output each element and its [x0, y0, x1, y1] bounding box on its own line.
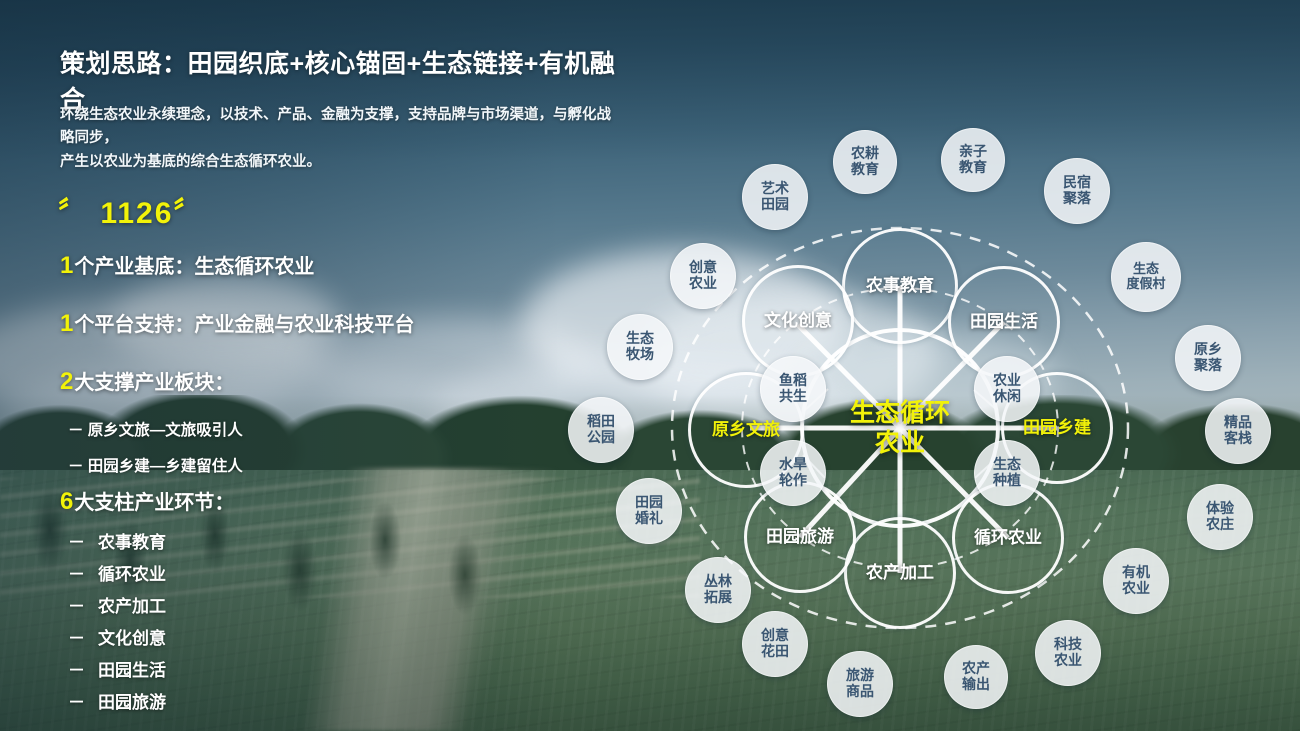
bullet: －: [68, 534, 98, 551]
slide-canvas: 策划思路：田园织底+核心锚固+生态链接+有机融合 环绕生态农业永续理念，以技术、…: [0, 0, 1300, 731]
outer-node-tiyan-nongzhuang[interactable]: 体验 农庄: [1187, 484, 1253, 550]
key-point-2-number: 1: [60, 310, 73, 337]
outer-node-tianyuan-hunli[interactable]: 田园 婚礼: [616, 478, 682, 544]
ecosystem-diagram: 生态循环 农业 农事教育 田园生活 田园乡建 循环农业 农产加工 田园旅游 原乡…: [560, 110, 1300, 731]
list-item: －循环农业: [68, 566, 166, 583]
key-point-3: 2大支撑产业板块：: [60, 366, 234, 396]
six-header-number: 6: [60, 488, 73, 515]
pillar-dash-2: － 田园乡建—乡建留住人: [68, 454, 243, 476]
outer-node-label-line-2: 拓展: [704, 590, 732, 606]
outer-node-label-line-1: 生态: [1126, 262, 1165, 277]
inner-node-label-line-2: 种植: [993, 473, 1021, 489]
bullet: －: [68, 630, 98, 647]
key-point-1-text: 个产业基底：生态循环农业: [74, 256, 314, 278]
outer-node-label-line-2: 牧场: [626, 347, 654, 363]
list-item: －农事教育: [68, 534, 166, 551]
outer-node-label-line-2: 度假村: [1126, 277, 1165, 292]
list-item-label: 农事教育: [98, 533, 166, 552]
inner-node-label-line-2: 共生: [779, 389, 807, 405]
outer-node-yuanxiang-juluo[interactable]: 原乡 聚落: [1175, 325, 1241, 391]
key-point-1-number: 1: [60, 252, 73, 279]
bullet: －: [68, 694, 98, 711]
outer-node-label-line-2: 农庄: [1206, 517, 1234, 533]
outer-node-label-line-2: 教育: [851, 162, 879, 178]
ring-node-label: 原乡文旅: [712, 420, 780, 439]
outer-node-label-line-1: 生态: [626, 331, 654, 347]
key-point-3-number: 2: [60, 368, 73, 395]
inner-node-label-line-2: 轮作: [779, 473, 807, 489]
outer-node-label-line-2: 商品: [846, 684, 874, 700]
core-label-line-2: 农业: [850, 428, 950, 458]
outer-node-label-line-1: 创意: [761, 628, 789, 644]
inner-node-label-line-2: 休闲: [993, 389, 1021, 405]
outer-node-chuangyi-huatian[interactable]: 创意 花田: [742, 611, 808, 677]
outer-node-chuangyi-nongye[interactable]: 创意 农业: [670, 243, 736, 309]
outer-node-label-line-2: 客栈: [1224, 431, 1252, 447]
list-item-label: 文化创意: [98, 629, 166, 648]
outer-node-label-line-2: 农业: [689, 276, 717, 292]
outer-node-minsu-juluo[interactable]: 民宿 聚落: [1044, 158, 1110, 224]
outer-node-jingpin-kezhan[interactable]: 精品 客栈: [1205, 398, 1271, 464]
outer-node-shengtai-dujiacun[interactable]: 生态 度假村: [1111, 242, 1181, 312]
list-item-label: 田园生活: [98, 661, 166, 680]
outer-node-label-line-1: 农耕: [851, 146, 879, 162]
six-header-text: 大支柱产业环节：: [74, 492, 234, 514]
inner-node-label-line-1: 鱼稻: [779, 373, 807, 389]
outer-node-label-line-1: 艺术: [761, 181, 789, 197]
outer-node-label-line-1: 稻田: [587, 414, 615, 430]
outer-node-label-line-2: 田园: [761, 197, 789, 213]
inner-node-label-line-1: 农业: [993, 373, 1021, 389]
outer-node-label-line-2: 聚落: [1063, 191, 1091, 207]
outer-node-label-line-2: 公园: [587, 430, 615, 446]
outer-node-label-line-1: 农产: [962, 661, 990, 677]
core-label-line-1: 生态循环: [850, 398, 950, 428]
ring-node-label: 农产加工: [866, 563, 934, 582]
pillar-dash-1: － 原乡文旅—文旅吸引人: [68, 418, 243, 440]
outer-node-keji-nongye[interactable]: 科技 农业: [1035, 620, 1101, 686]
key-point-1: 1个产业基底：生态循环农业: [60, 250, 314, 280]
key-point-3-text: 大支撑产业板块：: [74, 372, 234, 394]
outer-node-label-line-1: 有机: [1122, 565, 1150, 581]
ring-node-label: 农事教育: [866, 276, 934, 295]
outer-node-label-line-1: 田园: [635, 495, 663, 511]
list-item-label: 田园旅游: [98, 693, 166, 712]
inner-node-shengtai-zhongzhi[interactable]: 生态 种植: [974, 440, 1040, 506]
outer-node-label-line-2: 农业: [1054, 653, 1082, 669]
outer-node-lvyou-shangpin[interactable]: 旅游 商品: [827, 651, 893, 717]
outer-node-conglin-tuozhan[interactable]: 丛林 拓展: [685, 557, 751, 623]
outer-node-label-line-2: 婚礼: [635, 511, 663, 527]
left-text-column: 策划思路：田园织底+核心锚固+生态链接+有机融合 环绕生态农业永续理念，以技术、…: [0, 0, 620, 731]
six-header: 6大支柱产业环节：: [60, 486, 234, 516]
list-item: －田园生活: [68, 662, 166, 679]
outer-node-label-line-2: 农业: [1122, 581, 1150, 597]
bullet: －: [68, 662, 98, 679]
outer-node-shengtai-muchang[interactable]: 生态 牧场: [607, 314, 673, 380]
ring-node-label: 田园旅游: [766, 527, 834, 546]
key-point-2-text: 个平台支持：产业金融与农业科技平台: [74, 314, 414, 336]
inner-node-label-line-1: 水旱: [779, 457, 807, 473]
subtitle-line-2: 产生以农业为基底的综合生态循环农业。: [60, 151, 620, 174]
outer-node-yishu-tianyuan[interactable]: 艺术 田园: [742, 164, 808, 230]
outer-node-label-line-2: 输出: [962, 677, 990, 693]
ring-node-label: 田园乡建: [1023, 418, 1091, 437]
outer-node-label-line-1: 旅游: [846, 668, 874, 684]
list-item: －农产加工: [68, 598, 166, 615]
six-items-list: －农事教育 －循环农业 －农产加工 －文化创意 －田园生活 －田园旅游: [68, 534, 166, 726]
bullet: －: [68, 566, 98, 583]
list-item-label: 农产加工: [98, 597, 166, 616]
outer-node-label-line-1: 精品: [1224, 415, 1252, 431]
ring-node-label: 循环农业: [974, 528, 1042, 547]
outer-node-daotian-gongyuan[interactable]: 稻田 公园: [568, 397, 634, 463]
outer-node-youji-nongye[interactable]: 有机 农业: [1103, 548, 1169, 614]
outer-node-label-line-2: 聚落: [1194, 358, 1222, 374]
list-item-label: 循环农业: [98, 565, 166, 584]
ring-node-label: 文化创意: [764, 311, 832, 330]
list-item: －文化创意: [68, 630, 166, 647]
inner-node-label-line-1: 生态: [993, 457, 1021, 473]
code-label: 〞 1126〞: [58, 188, 205, 232]
outer-node-label-line-1: 创意: [689, 260, 717, 276]
ring-node-label: 田园生活: [970, 312, 1038, 331]
outer-node-label-line-2: 花田: [761, 644, 789, 660]
inner-node-nongye-xiuxian[interactable]: 农业 休闲: [974, 356, 1040, 422]
outer-node-label-line-1: 原乡: [1194, 342, 1222, 358]
outer-node-label-line-1: 亲子: [959, 144, 987, 160]
outer-node-label-line-1: 丛林: [704, 574, 732, 590]
outer-node-label-line-1: 民宿: [1063, 175, 1091, 191]
list-item: －田园旅游: [68, 694, 166, 711]
subtitle-block: 环绕生态农业永续理念，以技术、产品、金融为支撑，支持品牌与市场渠道，与孵化战略同…: [60, 104, 620, 174]
key-point-2: 1个平台支持：产业金融与农业科技平台: [60, 308, 414, 338]
outer-node-label-line-1: 体验: [1206, 501, 1234, 517]
outer-node-label-line-1: 科技: [1054, 637, 1082, 653]
inner-node-yudao-gongsheng[interactable]: 鱼稻 共生: [760, 356, 826, 422]
outer-node-label-line-2: 教育: [959, 160, 987, 176]
ring-node-nongchan-jiagong[interactable]: 农产加工: [844, 517, 956, 629]
subtitle-line-1: 环绕生态农业永续理念，以技术、产品、金融为支撑，支持品牌与市场渠道，与孵化战略同…: [60, 104, 620, 151]
outer-node-nongchan-shuchu[interactable]: 农产 输出: [944, 645, 1008, 709]
inner-node-shuihan-lunzuo[interactable]: 水旱 轮作: [760, 440, 826, 506]
outer-node-qinzi-jiaoyu[interactable]: 亲子 教育: [941, 128, 1005, 192]
outer-node-nonggeng-jiaoyu[interactable]: 农耕 教育: [833, 130, 897, 194]
bullet: －: [68, 598, 98, 615]
ring-node-nongshi-jiaoyu[interactable]: 农事教育: [842, 228, 958, 344]
